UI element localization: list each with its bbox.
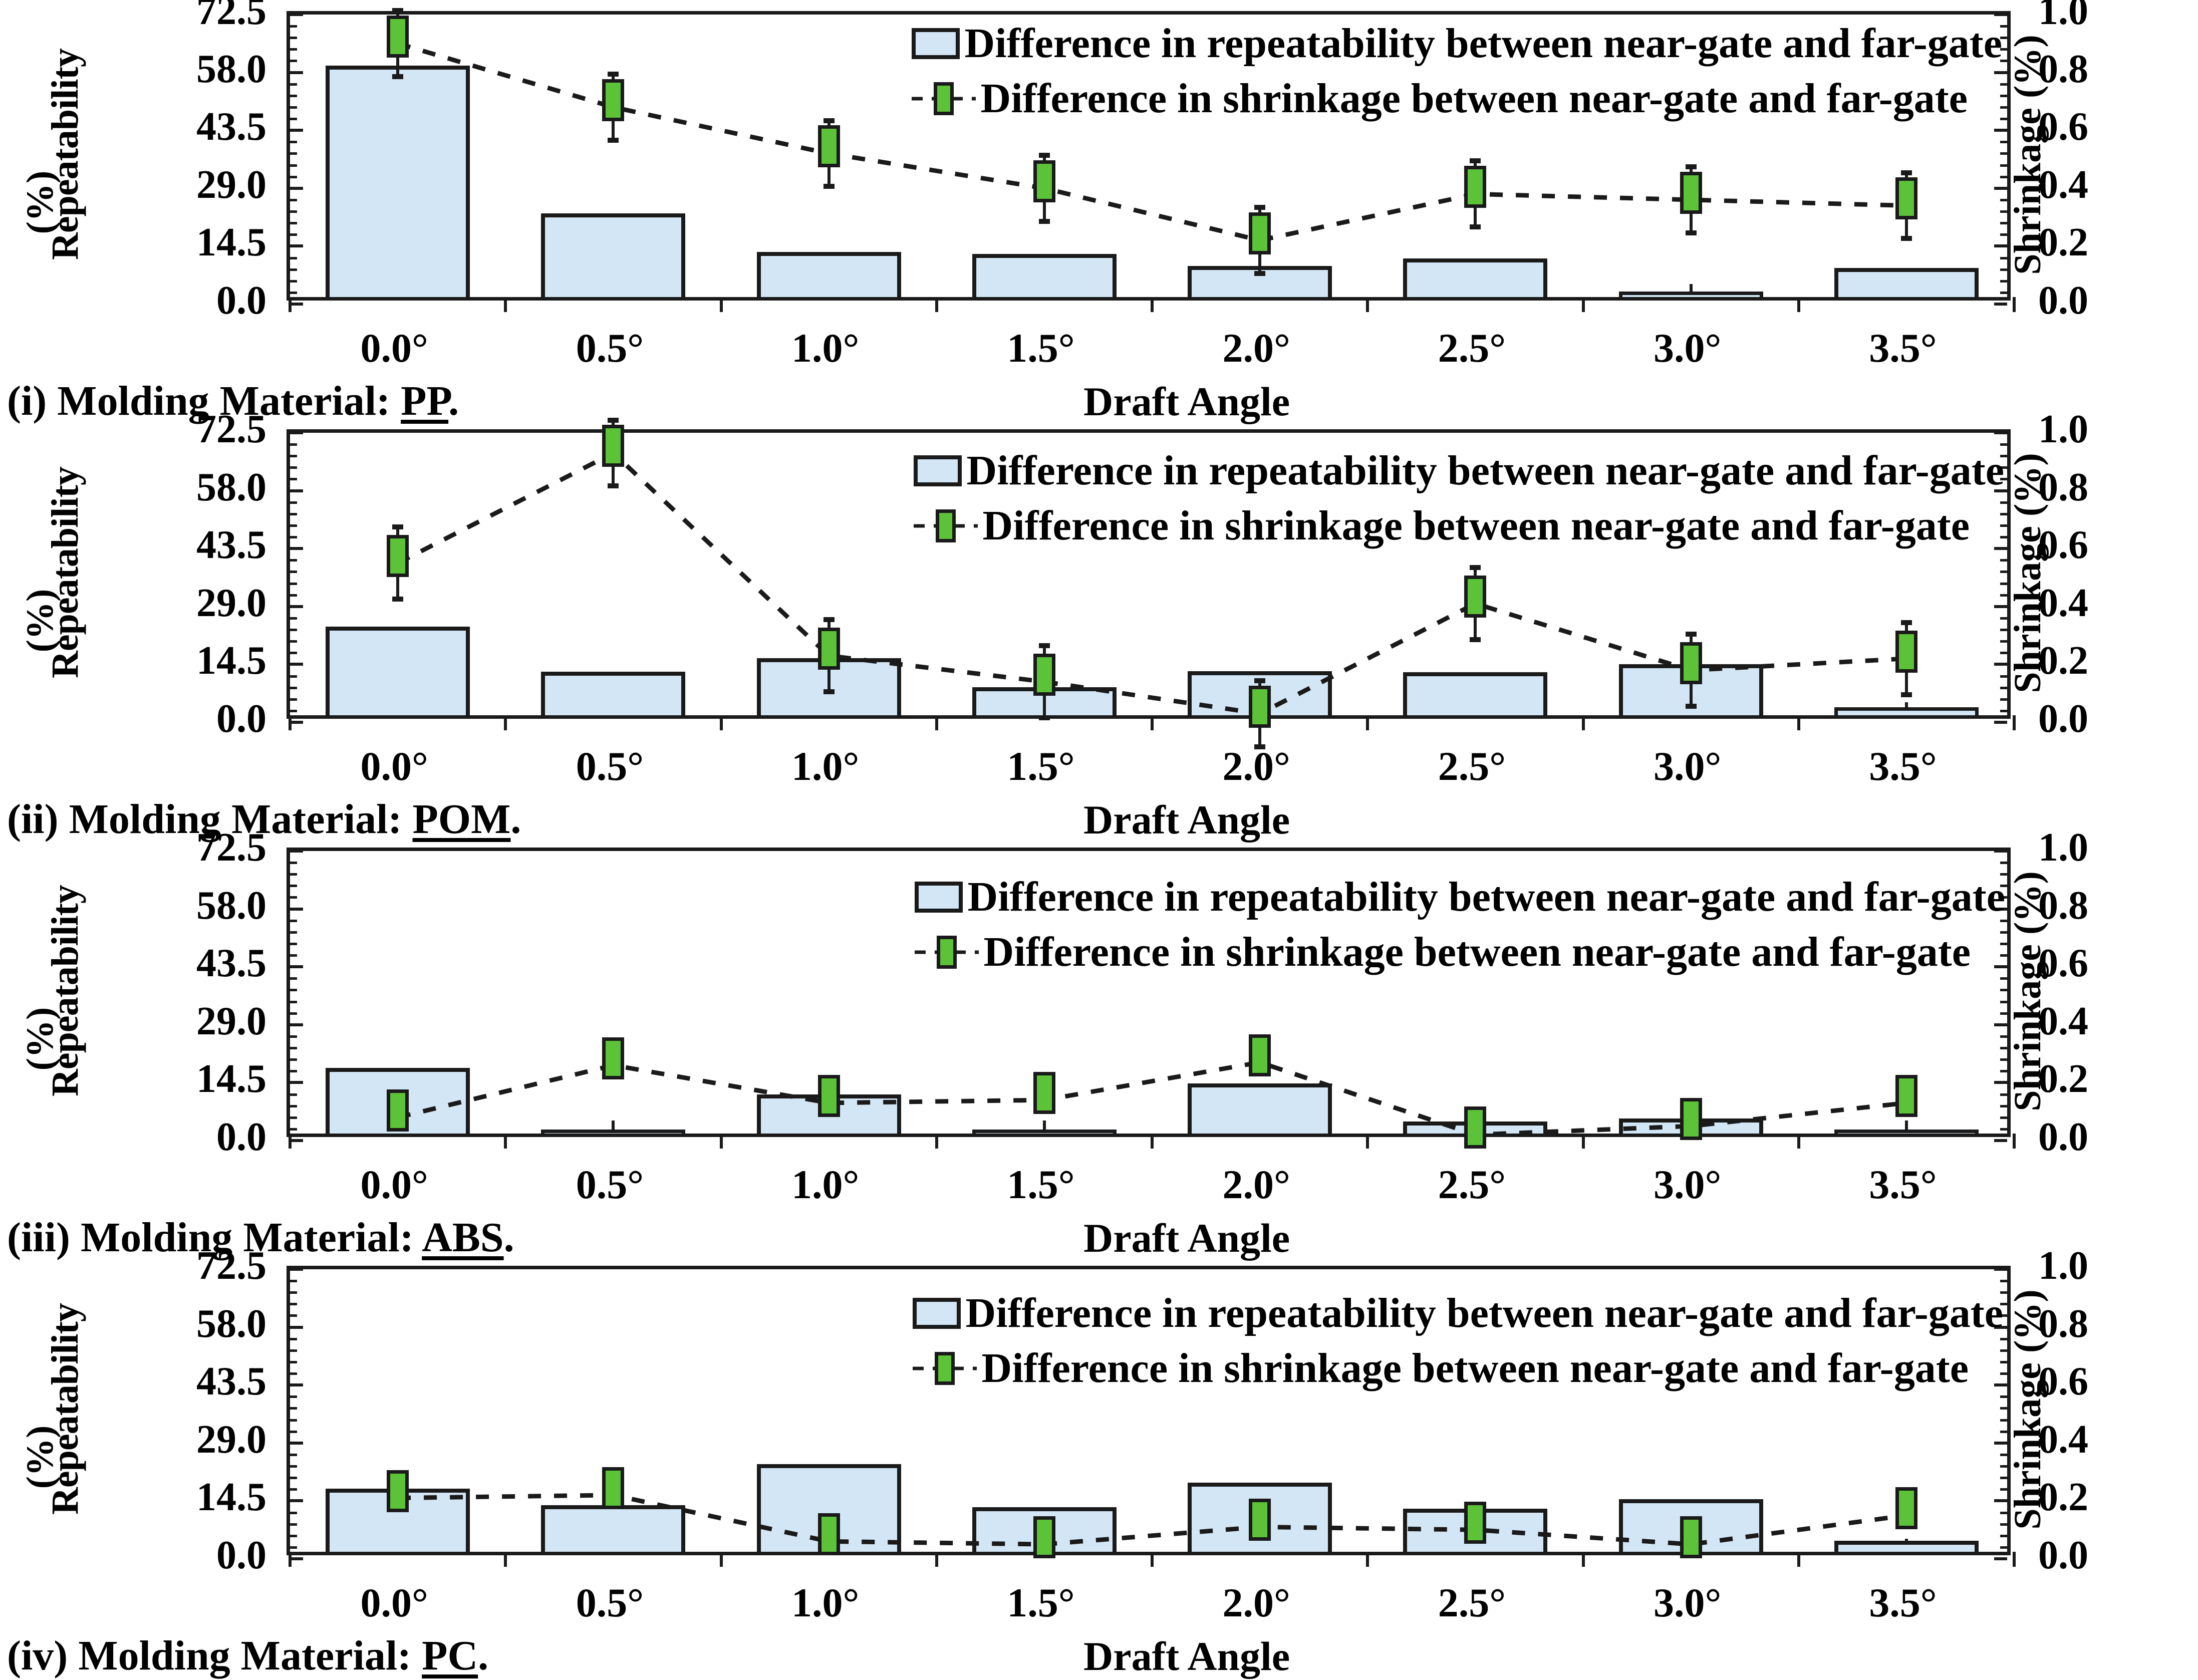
error-bar-cap-upper bbox=[608, 72, 619, 77]
shrinkage-marker-1.0 bbox=[818, 1075, 840, 1117]
legend-bar-swatch bbox=[913, 1298, 961, 1329]
x-tick-label: 2.5° bbox=[1438, 1161, 1506, 1208]
legend-label-repeatability: Difference in repeatability between near… bbox=[967, 450, 2004, 492]
x-tick-label: 1.0° bbox=[791, 1161, 859, 1208]
shrinkage-marker-0.5 bbox=[602, 1037, 624, 1079]
x-tick-label: 3.5° bbox=[1869, 743, 1937, 790]
shrinkage-marker-3.5 bbox=[1895, 631, 1917, 673]
y-axis-unit: (%) bbox=[21, 1407, 59, 1507]
y-tick-label: 14.5 bbox=[196, 1477, 266, 1517]
caption-suffix: . bbox=[478, 1632, 488, 1679]
secondary-y-tick-label: 0.8 bbox=[2038, 1304, 2088, 1344]
shrinkage-marker-2.0 bbox=[1249, 212, 1271, 254]
secondary-y-tick-label: 0.8 bbox=[2038, 467, 2088, 507]
x-tick-label: 0.5° bbox=[576, 1579, 644, 1626]
x-tick-label: 2.5° bbox=[1438, 325, 1506, 372]
legend-item-shrinkage: Difference in shrinkage between near-gat… bbox=[915, 931, 2005, 973]
shrinkage-marker-0.0 bbox=[387, 16, 409, 58]
x-axis-tick-labels: 0.0°0.5°1.0°1.5°2.0°2.5°3.0°3.5° bbox=[287, 1161, 2011, 1211]
shrinkage-marker-3.5 bbox=[1895, 1075, 1917, 1117]
x-tick-label: 1.5° bbox=[1007, 1161, 1074, 1208]
y-tick-label: 58.0 bbox=[196, 467, 266, 507]
x-tick-label: 2.0° bbox=[1222, 743, 1290, 790]
legend-item-repeatability: Difference in repeatability between near… bbox=[914, 450, 2004, 492]
error-bar-cap-lower bbox=[1686, 230, 1697, 235]
x-tick-label: 1.5° bbox=[1007, 743, 1074, 790]
secondary-y-tick-label: 0.4 bbox=[2038, 165, 2088, 205]
x-tick-label: 1.0° bbox=[791, 1579, 859, 1626]
error-bar-cap-upper bbox=[1470, 158, 1481, 163]
legend-label-shrinkage: Difference in shrinkage between near-gat… bbox=[983, 505, 1970, 547]
y-tick-label: 29.0 bbox=[196, 165, 266, 205]
x-tick-label: 0.5° bbox=[576, 743, 644, 790]
secondary-y-tick-label: 0.4 bbox=[2038, 1420, 2088, 1460]
shrinkage-marker-2.0 bbox=[1249, 1034, 1271, 1076]
x-tick-label: 3.5° bbox=[1869, 325, 1937, 372]
secondary-y-tick-label: 0.8 bbox=[2038, 886, 2088, 926]
legend-label-shrinkage: Difference in shrinkage between near-gat… bbox=[981, 78, 1968, 120]
error-bar-cap-upper bbox=[1039, 643, 1050, 648]
chart-panel-3: Repeatability(%)Shrinkage (%)0.014.529.0… bbox=[0, 836, 2198, 1255]
y-tick-label: 29.0 bbox=[196, 1420, 266, 1460]
shrinkage-marker-1.5 bbox=[1033, 654, 1055, 696]
caption-prefix: (iv) Molding Material: bbox=[7, 1632, 422, 1679]
x-tick-label: 1.0° bbox=[791, 743, 859, 790]
error-bar-cap-upper bbox=[1470, 565, 1481, 570]
y-axis-tick-labels: 0.014.529.043.558.072.5 bbox=[101, 848, 266, 1137]
secondary-y-tick-label: 0.0 bbox=[2038, 281, 2088, 321]
error-bar-cap-lower bbox=[1901, 236, 1912, 241]
error-bar-cap-lower bbox=[823, 184, 835, 189]
y-tick-label: 43.5 bbox=[196, 1361, 266, 1402]
y-tick-label: 0.0 bbox=[216, 281, 266, 321]
x-tick-label: 0.0° bbox=[360, 1579, 428, 1626]
shrinkage-marker-2.5 bbox=[1464, 1502, 1486, 1544]
secondary-y-tick-label: 1.0 bbox=[2038, 827, 2088, 868]
x-tick-label: 3.0° bbox=[1654, 743, 1721, 790]
error-bar-cap-upper bbox=[823, 118, 835, 123]
chart-legend: Difference in repeatability between near… bbox=[914, 450, 2004, 560]
legend-item-shrinkage: Difference in shrinkage between near-gat… bbox=[912, 78, 2002, 120]
secondary-y-tick-label: 0.6 bbox=[2038, 525, 2088, 565]
secondary-y-tick-label: 1.0 bbox=[2038, 1246, 2088, 1286]
secondary-y-axis-tick-labels: 0.00.20.40.60.81.0 bbox=[2038, 429, 2188, 719]
error-bar-cap-lower bbox=[1470, 224, 1481, 229]
legend-bar-swatch bbox=[915, 882, 963, 913]
y-tick-label: 0.0 bbox=[216, 699, 266, 739]
chart-legend: Difference in repeatability between near… bbox=[915, 876, 2005, 986]
shrinkage-marker-3.5 bbox=[1895, 177, 1917, 219]
error-bar-cap-lower bbox=[1686, 704, 1697, 709]
y-tick-label: 58.0 bbox=[196, 886, 266, 926]
y-tick-label: 0.0 bbox=[216, 1117, 266, 1157]
y-axis-unit: (%) bbox=[21, 152, 59, 252]
x-tick-label: 2.5° bbox=[1438, 1579, 1506, 1626]
x-tick-label: 3.5° bbox=[1869, 1161, 1937, 1208]
x-tick-label: 1.0° bbox=[791, 325, 859, 372]
caption-material: PP bbox=[401, 378, 448, 424]
secondary-y-tick-label: 0.4 bbox=[2038, 1001, 2088, 1041]
x-tick-label: 2.5° bbox=[1438, 743, 1506, 790]
caption-material: ABS bbox=[422, 1214, 503, 1261]
caption-suffix: . bbox=[448, 378, 459, 424]
error-bar-cap-upper bbox=[1686, 632, 1697, 637]
y-tick-label: 14.5 bbox=[196, 641, 266, 681]
y-axis-tick-labels: 0.014.529.043.558.072.5 bbox=[101, 429, 266, 719]
shrinkage-marker-2.5 bbox=[1464, 1106, 1486, 1149]
error-bar-cap-upper bbox=[608, 418, 619, 423]
error-bar-cap-lower bbox=[1901, 692, 1912, 697]
error-bar-cap-upper bbox=[1901, 620, 1912, 625]
legend-label-repeatability: Difference in repeatability between near… bbox=[966, 1292, 2003, 1334]
plot-area: Difference in repeatability between near… bbox=[287, 429, 2011, 719]
chart-legend: Difference in repeatability between near… bbox=[913, 1292, 2003, 1403]
legend-item-shrinkage: Difference in shrinkage between near-gat… bbox=[913, 1347, 2003, 1389]
error-bar-cap-upper bbox=[1254, 205, 1265, 210]
legend-marker-swatch bbox=[913, 1352, 977, 1384]
y-axis-unit: (%) bbox=[21, 989, 59, 1089]
y-axis-tick-labels: 0.014.529.043.558.072.5 bbox=[101, 1266, 266, 1555]
secondary-y-tick-label: 0.6 bbox=[2038, 107, 2088, 147]
shrinkage-marker-0.0 bbox=[387, 1470, 409, 1512]
secondary-y-tick-label: 0.0 bbox=[2038, 1117, 2088, 1157]
secondary-y-tick-label: 0.4 bbox=[2038, 583, 2088, 623]
secondary-y-tick-label: 0.8 bbox=[2038, 49, 2088, 89]
chart-legend: Difference in repeatability between near… bbox=[912, 23, 2002, 133]
shrinkage-marker-2.0 bbox=[1249, 686, 1271, 728]
legend-item-repeatability: Difference in repeatability between near… bbox=[915, 876, 2005, 918]
secondary-y-tick-label: 1.0 bbox=[2038, 0, 2088, 31]
x-tick-label: 0.5° bbox=[576, 1161, 644, 1208]
shrinkage-marker-1.0 bbox=[818, 125, 840, 167]
x-tick-label: 1.5° bbox=[1007, 1579, 1074, 1626]
caption-suffix: . bbox=[510, 796, 521, 843]
legend-green-square bbox=[936, 509, 956, 542]
shrinkage-marker-3.0 bbox=[1680, 172, 1702, 214]
shrinkage-marker-0.5 bbox=[602, 1467, 624, 1509]
secondary-y-axis-tick-labels: 0.00.20.40.60.81.0 bbox=[2038, 1266, 2188, 1555]
multi-panel-figure: Repeatability(%)Shrinkage (%)0.014.529.0… bbox=[0, 0, 2198, 1673]
error-bar-cap-upper bbox=[392, 524, 403, 529]
chart-panel-2: Repeatability(%)Shrinkage (%)0.014.529.0… bbox=[0, 418, 2198, 836]
shrinkage-marker-1.0 bbox=[818, 628, 840, 670]
shrinkage-marker-2.5 bbox=[1464, 166, 1486, 208]
x-tick-label: 3.5° bbox=[1869, 1579, 1937, 1626]
secondary-y-tick-label: 0.2 bbox=[2038, 641, 2088, 681]
error-bar-cap-lower bbox=[608, 483, 619, 488]
error-bar-cap-lower bbox=[392, 74, 403, 79]
plot-inner: Difference in repeatability between near… bbox=[290, 433, 2007, 715]
error-bar-cap-lower bbox=[1470, 637, 1481, 642]
x-tick-label: 2.0° bbox=[1222, 1161, 1290, 1208]
secondary-y-tick-label: 0.2 bbox=[2038, 1477, 2088, 1517]
shrinkage-marker-0.5 bbox=[602, 425, 624, 467]
legend-green-square bbox=[934, 82, 954, 115]
x-tick-label: 3.0° bbox=[1654, 325, 1721, 372]
error-bar-cap-lower bbox=[608, 138, 619, 143]
plot-area: Difference in repeatability between near… bbox=[287, 848, 2011, 1137]
y-tick-label: 72.5 bbox=[196, 409, 266, 449]
shrinkage-marker-3.5 bbox=[1895, 1487, 1917, 1529]
plot-area: Difference in repeatability between near… bbox=[287, 11, 2011, 301]
error-bar-cap-lower bbox=[1039, 715, 1050, 720]
legend-marker-swatch bbox=[912, 83, 976, 115]
y-tick-label: 58.0 bbox=[196, 1304, 266, 1344]
legend-label-repeatability: Difference in repeatability between near… bbox=[965, 23, 2002, 65]
shrinkage-marker-0.0 bbox=[387, 1089, 409, 1132]
plot-area: Difference in repeatability between near… bbox=[287, 1266, 2011, 1555]
legend-marker-swatch bbox=[914, 510, 978, 542]
shrinkage-marker-2.5 bbox=[1464, 576, 1486, 618]
shrinkage-marker-3.0 bbox=[1680, 1098, 1702, 1140]
error-bar-cap-upper bbox=[1686, 164, 1697, 169]
secondary-y-tick-label: 1.0 bbox=[2038, 409, 2088, 449]
y-tick-label: 14.5 bbox=[196, 222, 266, 262]
secondary-y-tick-label: 0.2 bbox=[2038, 222, 2088, 262]
x-tick-label: 0.0° bbox=[360, 1161, 428, 1208]
error-bar-cap-lower bbox=[823, 689, 835, 694]
y-axis-unit: (%) bbox=[21, 571, 59, 671]
error-bar-cap-upper bbox=[823, 617, 835, 622]
error-bar-cap-upper bbox=[1039, 153, 1050, 158]
x-tick-label: 0.0° bbox=[360, 743, 428, 790]
x-tick-label: 0.5° bbox=[576, 325, 644, 372]
x-tick-label: 2.0° bbox=[1222, 1579, 1290, 1626]
x-tick-label: 3.0° bbox=[1654, 1161, 1721, 1208]
x-axis-tick-labels: 0.0°0.5°1.0°1.5°2.0°2.5°3.0°3.5° bbox=[287, 325, 2011, 375]
error-bar-cap-lower bbox=[1254, 271, 1265, 276]
legend-label-shrinkage: Difference in shrinkage between near-gat… bbox=[982, 1347, 1969, 1389]
error-bar-cap-upper bbox=[392, 8, 403, 13]
caption-suffix: . bbox=[504, 1214, 514, 1261]
shrinkage-marker-3.0 bbox=[1680, 642, 1702, 684]
shrinkage-marker-1.5 bbox=[1033, 160, 1055, 202]
x-tick-label: 3.0° bbox=[1654, 1579, 1721, 1626]
x-tick-label: 0.0° bbox=[360, 325, 428, 372]
error-bar-cap-upper bbox=[1254, 678, 1265, 683]
shrinkage-marker-1.5 bbox=[1033, 1516, 1055, 1558]
y-tick-label: 43.5 bbox=[196, 525, 266, 565]
y-tick-label: 72.5 bbox=[196, 1246, 266, 1286]
y-tick-label: 72.5 bbox=[196, 827, 266, 868]
y-axis-tick-labels: 0.014.529.043.558.072.5 bbox=[101, 11, 266, 301]
chart-panel-4: Repeatability(%)Shrinkage (%)0.014.529.0… bbox=[0, 1255, 2198, 1673]
legend-label-shrinkage: Difference in shrinkage between near-gat… bbox=[984, 931, 1971, 973]
x-tick-label: 1.5° bbox=[1007, 325, 1074, 372]
secondary-y-tick-label: 0.6 bbox=[2038, 943, 2088, 983]
shrinkage-marker-3.0 bbox=[1680, 1516, 1702, 1558]
caption-material: POM bbox=[412, 796, 510, 843]
y-tick-label: 72.5 bbox=[196, 0, 266, 31]
legend-label-repeatability: Difference in repeatability between near… bbox=[968, 876, 2005, 918]
shrinkage-marker-0.5 bbox=[602, 79, 624, 121]
secondary-y-tick-label: 0.6 bbox=[2038, 1361, 2088, 1402]
secondary-y-tick-label: 0.2 bbox=[2038, 1059, 2088, 1099]
shrinkage-marker-0.0 bbox=[387, 535, 409, 577]
legend-item-repeatability: Difference in repeatability between near… bbox=[913, 1292, 2003, 1334]
shrinkage-marker-2.0 bbox=[1249, 1499, 1271, 1541]
secondary-y-tick-label: 0.0 bbox=[2038, 1535, 2088, 1575]
secondary-y-tick-label: 0.0 bbox=[2038, 699, 2088, 739]
shrinkage-marker-1.0 bbox=[818, 1513, 840, 1555]
shrinkage-marker-1.5 bbox=[1033, 1072, 1055, 1114]
y-tick-label: 29.0 bbox=[196, 1001, 266, 1041]
legend-green-square bbox=[935, 1352, 955, 1385]
chart-panel-1: Repeatability(%)Shrinkage (%)0.014.529.0… bbox=[0, 0, 2198, 418]
x-axis-tick-labels: 0.0°0.5°1.0°1.5°2.0°2.5°3.0°3.5° bbox=[287, 1579, 2011, 1629]
x-tick-label: 2.0° bbox=[1222, 325, 1290, 372]
error-bar-cap-lower bbox=[1039, 219, 1050, 224]
legend-bar-swatch bbox=[912, 28, 960, 59]
y-tick-label: 29.0 bbox=[196, 583, 266, 623]
legend-item-shrinkage: Difference in shrinkage between near-gat… bbox=[914, 505, 2004, 547]
y-tick-label: 43.5 bbox=[196, 107, 266, 147]
x-axis-tick-labels: 0.0°0.5°1.0°1.5°2.0°2.5°3.0°3.5° bbox=[287, 743, 2011, 793]
plot-inner: Difference in repeatability between near… bbox=[290, 15, 2007, 297]
error-bar-cap-lower bbox=[392, 597, 403, 602]
y-tick-label: 0.0 bbox=[216, 1535, 266, 1575]
plot-inner: Difference in repeatability between near… bbox=[290, 851, 2007, 1134]
secondary-y-axis-tick-labels: 0.00.20.40.60.81.0 bbox=[2038, 848, 2188, 1137]
y-tick-label: 58.0 bbox=[196, 49, 266, 89]
error-bar-cap-upper bbox=[1901, 170, 1912, 175]
panel-caption-4: (iv) Molding Material: PC. bbox=[7, 1631, 488, 1680]
legend-marker-swatch bbox=[915, 936, 979, 968]
plot-inner: Difference in repeatability between near… bbox=[290, 1269, 2007, 1552]
caption-material: PC bbox=[422, 1632, 478, 1679]
y-tick-label: 43.5 bbox=[196, 943, 266, 983]
legend-bar-swatch bbox=[914, 455, 962, 486]
legend-green-square bbox=[937, 936, 957, 969]
legend-item-repeatability: Difference in repeatability between near… bbox=[912, 23, 2002, 65]
secondary-y-axis-tick-labels: 0.00.20.40.60.81.0 bbox=[2038, 11, 2188, 301]
y-tick-label: 14.5 bbox=[196, 1059, 266, 1099]
